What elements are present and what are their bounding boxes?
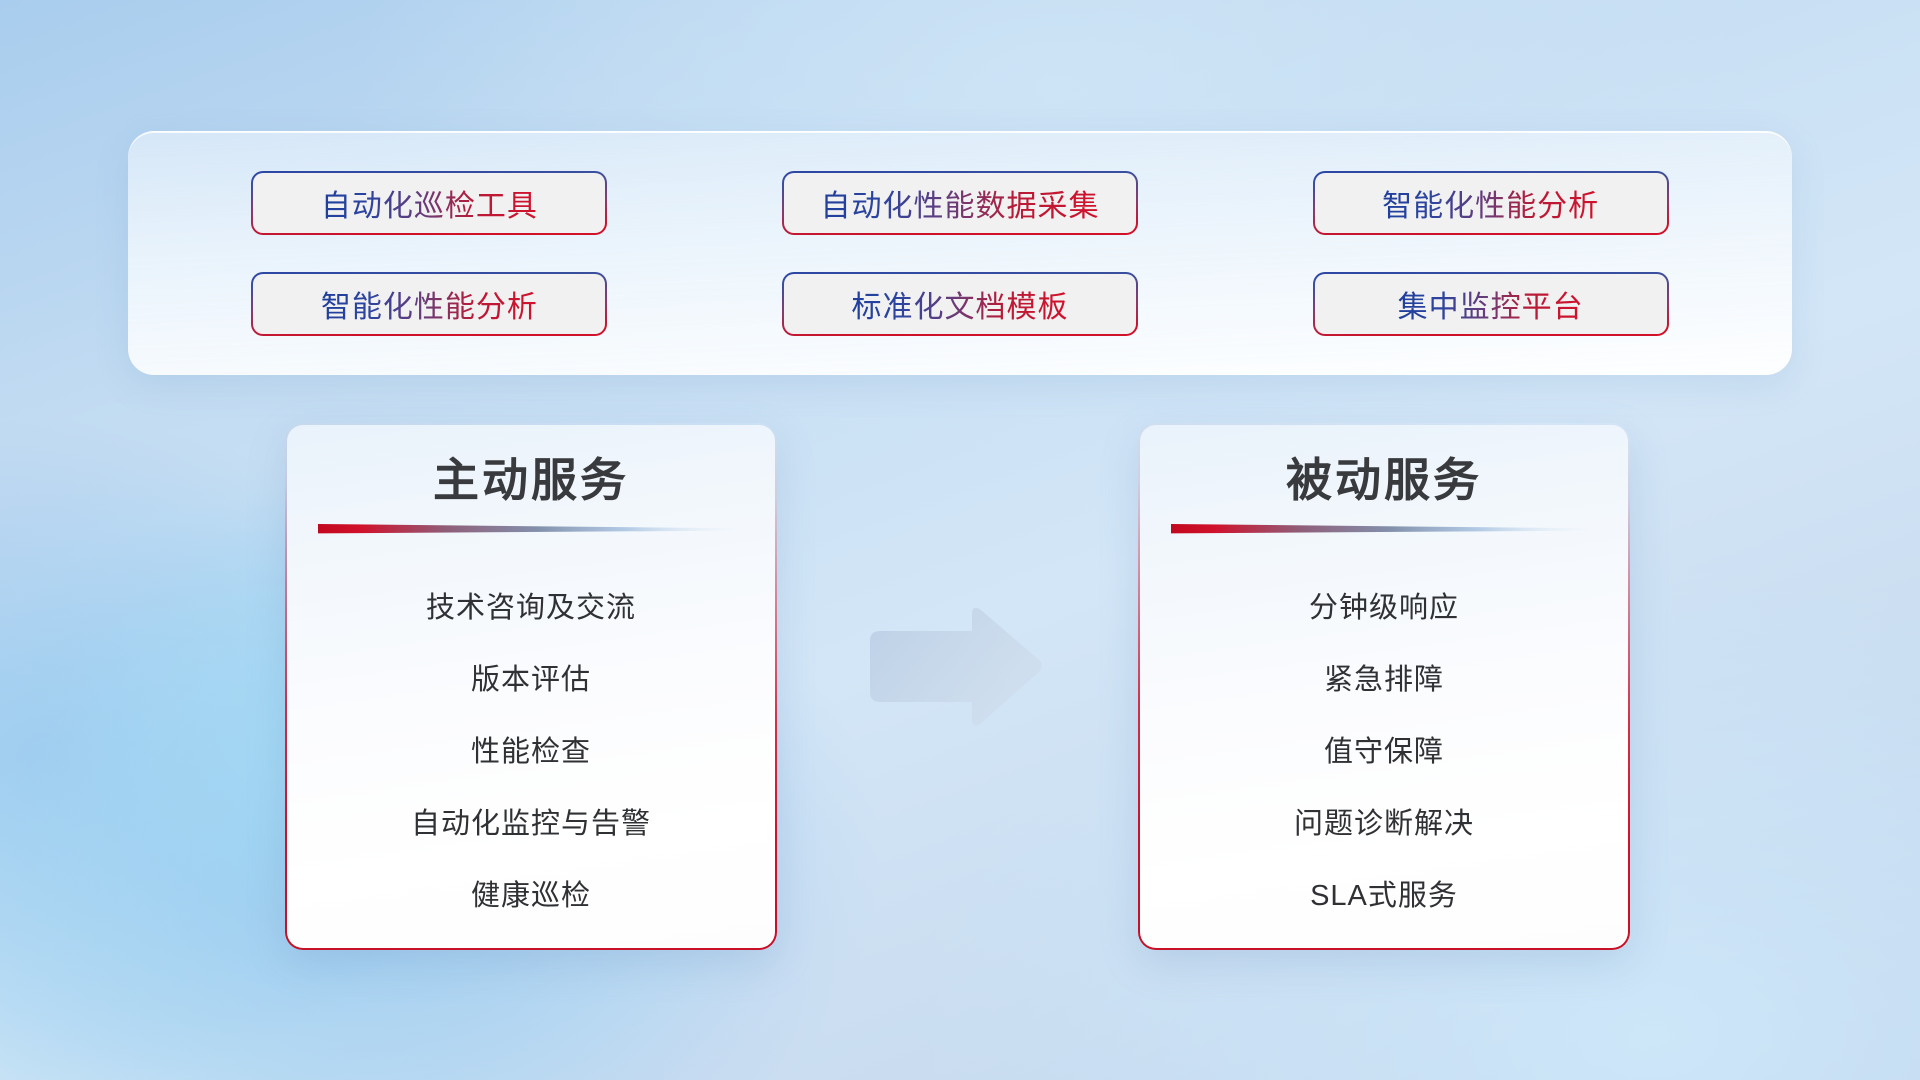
list-item: 健康巡检 xyxy=(471,860,591,932)
proactive-title-underline xyxy=(318,522,744,538)
capabilities-panel: 自动化巡检工具 自动化性能数据采集 智能化性能分析 智能化性能分析 xyxy=(128,131,1792,375)
list-item: 技术咨询及交流 xyxy=(426,572,636,644)
capability-pill-2[interactable]: 自动化性能数据采集 xyxy=(782,171,1138,235)
capability-pill-3-label: 智能化性能分析 xyxy=(1382,181,1599,225)
slide-canvas: 自动化巡检工具 自动化性能数据采集 智能化性能分析 智能化性能分析 xyxy=(0,0,1920,1080)
list-item: 自动化监控与告警 xyxy=(411,788,651,860)
capability-pill-1-label: 自动化巡检工具 xyxy=(321,181,538,225)
capability-pill-6-label: 集中监控平台 xyxy=(1398,282,1584,326)
list-item: SLA式服务 xyxy=(1310,860,1458,932)
capability-pill-1[interactable]: 自动化巡检工具 xyxy=(251,171,607,235)
capability-pill-3[interactable]: 智能化性能分析 xyxy=(1313,171,1669,235)
list-item: 版本评估 xyxy=(471,644,591,716)
capability-pill-2-label: 自动化性能数据采集 xyxy=(820,181,1099,225)
proactive-service-list: 技术咨询及交流 版本评估 性能检查 自动化监控与告警 健康巡检 xyxy=(287,572,775,932)
capability-pill-5-body: 标准化文档模板 xyxy=(784,274,1136,334)
reactive-title-underline xyxy=(1171,522,1597,538)
capability-pill-4[interactable]: 智能化性能分析 xyxy=(251,272,607,336)
list-item: 紧急排障 xyxy=(1324,644,1444,716)
capability-pill-3-body: 智能化性能分析 xyxy=(1315,173,1667,233)
capability-pill-6-body: 集中监控平台 xyxy=(1315,274,1667,334)
capability-pill-6[interactable]: 集中监控平台 xyxy=(1313,272,1669,336)
capability-pill-5-label: 标准化文档模板 xyxy=(851,282,1068,326)
capability-pill-4-label: 智能化性能分析 xyxy=(321,282,538,326)
service-card-proactive-body: 主动服务 xyxy=(287,425,775,948)
capability-pill-5[interactable]: 标准化文档模板 xyxy=(782,272,1138,336)
service-card-reactive: 被动服务 xyxy=(1138,423,1630,950)
arrow-right-icon xyxy=(860,605,1046,729)
capability-pill-4-body: 智能化性能分析 xyxy=(253,274,605,334)
list-item: 值守保障 xyxy=(1324,716,1444,788)
capability-pill-1-body: 自动化巡检工具 xyxy=(253,173,605,233)
service-card-reactive-body: 被动服务 xyxy=(1140,425,1628,948)
service-card-proactive: 主动服务 xyxy=(285,423,777,950)
list-item: 问题诊断解决 xyxy=(1294,788,1474,860)
list-item: 分钟级响应 xyxy=(1309,572,1459,644)
list-item: 性能检查 xyxy=(471,716,591,788)
service-card-proactive-title: 主动服务 xyxy=(433,453,629,508)
service-card-reactive-title: 被动服务 xyxy=(1286,453,1482,508)
reactive-service-list: 分钟级响应 紧急排障 值守保障 问题诊断解决 SLA式服务 xyxy=(1140,572,1628,932)
capability-pill-2-body: 自动化性能数据采集 xyxy=(784,173,1136,233)
capability-pill-grid: 自动化巡检工具 自动化性能数据采集 智能化性能分析 智能化性能分析 xyxy=(128,132,1792,375)
